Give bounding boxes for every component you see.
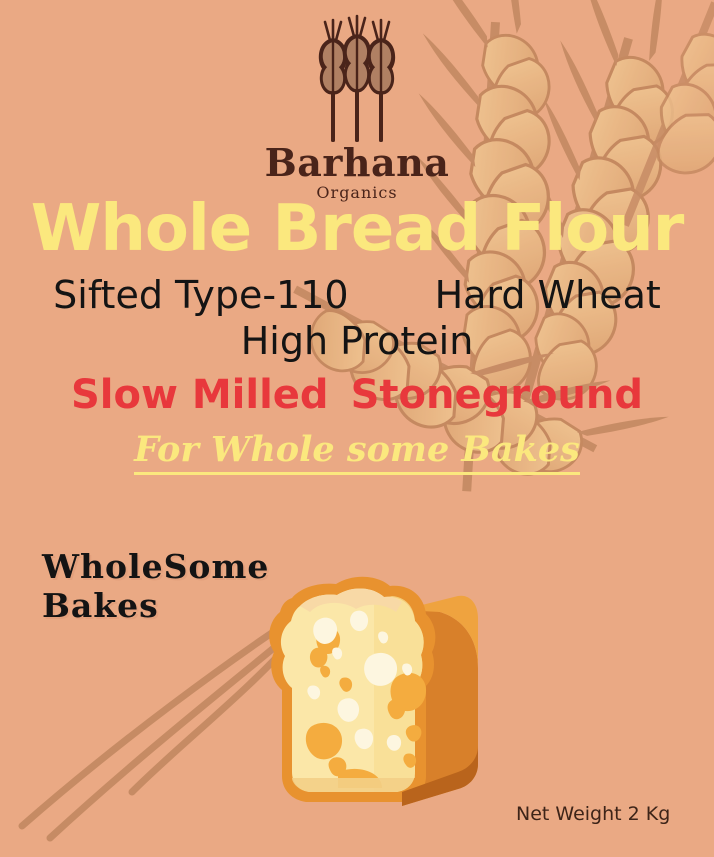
tagline: For Whole some Bakes xyxy=(134,431,580,475)
spec-sifted-type: Sifted Type-110 xyxy=(53,273,348,318)
brand-name: Barhana xyxy=(0,144,714,182)
wholesome-bakes-stamp: WholeSome Bakes xyxy=(42,548,269,626)
spec-hard-wheat: Hard Wheat xyxy=(435,273,661,318)
product-headline: Whole Bread Flour xyxy=(0,196,714,263)
label-copy: Whole Bread Flour Sifted Type-110 Hard W… xyxy=(0,196,714,475)
product-label: Barhana Organics Whole Bread Flour Sifte… xyxy=(0,0,714,857)
claim-row: Slow Milled Stoneground xyxy=(0,373,714,417)
claim-stoneground: Stoneground xyxy=(351,373,643,417)
wheat-stalks-icon xyxy=(309,14,405,142)
stamp-line-1: WholeSome xyxy=(42,548,269,587)
stamp-line-2: Bakes xyxy=(42,587,269,626)
spec-high-protein: High Protein xyxy=(0,319,714,364)
spec-row-top: Sifted Type-110 Hard Wheat xyxy=(0,273,714,318)
claim-slow-milled: Slow Milled xyxy=(71,373,329,417)
net-weight-text: Net Weight 2 Kg xyxy=(516,803,670,825)
brand-logo: Barhana Organics xyxy=(0,14,714,201)
